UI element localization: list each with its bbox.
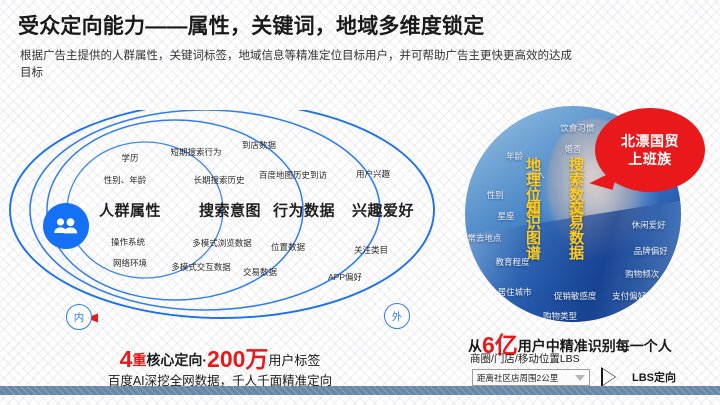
people-glyph [53,217,79,235]
core-stat-line: 4重核心定向·200万用户标签 [0,340,440,374]
axis-inner-cap: 内 [66,304,92,330]
axis-outer-cap: 外 [384,303,410,329]
venn-tag-3-4: 交易数据 [243,266,277,278]
venn-tag-1-2: 性别、年龄 [104,174,147,186]
cloud-label-7: 星座 [498,210,515,222]
page-subtitle: 根据广告主提供的人群属性，关键词标签，地域信息等精准定位目标用户，并可帮助广告主… [20,48,580,82]
cloud-label-12: 购物类型 [543,310,577,322]
cloud-highlight-2: 知 识 图 谱 [525,201,541,261]
cloud-highlight-4: 交 易 数 据 [569,201,585,261]
persona-bubble: 北漂国贸 上班族 [595,108,705,192]
venn-tag-4-3: APP偏好 [328,271,362,283]
core-count: 4 [120,346,133,372]
cloud-label-9: 教育程度 [496,256,530,268]
lbs-target-label: LBS定向 [632,369,676,385]
venn-group-label-3: 行为数据 [273,200,335,221]
cloud-label-13: 休闲爱好 [632,219,666,231]
venn-tag-1-4: 网络环境 [113,257,147,269]
play-arrow-icon [601,367,616,387]
bottom-accent-bar [0,386,720,395]
cloud-label-10: 居住城市 [498,286,532,298]
venn-tag-1-1: 学历 [121,152,138,164]
venn-tag-4-2: 关注类目 [354,244,388,256]
venn-tag-4-1: 用户兴趣 [356,168,390,180]
cloud-label-3: 婚否 [564,143,581,155]
venn-group-label-4: 兴趣爱好 [352,200,414,221]
slide-root: 受众定向能力——属性，关键词，地域多维度锁定 根据广告主提供的人群属性，关键词标… [0,0,720,405]
cloud-label-8: 常去地点 [467,232,501,244]
cloud-label-4: 年龄 [506,150,523,162]
cloud-label-6: 性别 [487,189,504,201]
inner-outer-axis-arrow [86,312,386,324]
cloud-label-14: 品牌偏好 [634,245,668,257]
tag-count: 200万 [207,346,268,372]
venn-tag-3-3: 位置数据 [271,241,305,253]
venn-tag-1-3: 操作系统 [111,236,145,248]
cloud-label-15: 购物频次 [625,268,659,280]
bubble-line-1: 北漂国贸 [621,132,679,150]
venn-group-label-1: 人群属性 [99,200,161,221]
venn-tag-2-4: 多模式交互数据 [171,261,231,273]
venn-group-label-2: 搜索意图 [199,200,261,221]
core-word: 重 [132,352,146,368]
venn-tag-2-2: 长期搜索历史 [193,174,244,186]
people-icon [43,203,89,249]
page-title: 受众定向能力——属性，关键词，地域多维度锁定 [18,10,484,40]
cloud-label-16: 支付偏好 [612,290,646,302]
venn-tag-2-1: 短期搜索行为 [170,146,221,158]
bubble-line-2: 上班族 [628,150,672,168]
core-text: 核心定向· [146,352,207,368]
venn-tag-3-1: 到店数据 [242,139,276,151]
lbs-subtitle: 商圈/门店/移动位置LBS [470,351,580,366]
venn-tag-3-2: 百度地图历史到访 [259,169,327,181]
cloud-label-11: 促销敏感度 [554,290,597,302]
tag-text: 用户标签 [268,353,320,368]
distance-select-value: 距离社区店周围2公里 [473,372,558,384]
cloud-label-1: 饮食习惯 [560,122,594,134]
distance-select[interactable]: 距离社区店周围2公里 [472,369,590,386]
chevron-down-icon [575,375,585,381]
venn-tag-2-3: 多模式浏览数据 [192,237,252,249]
